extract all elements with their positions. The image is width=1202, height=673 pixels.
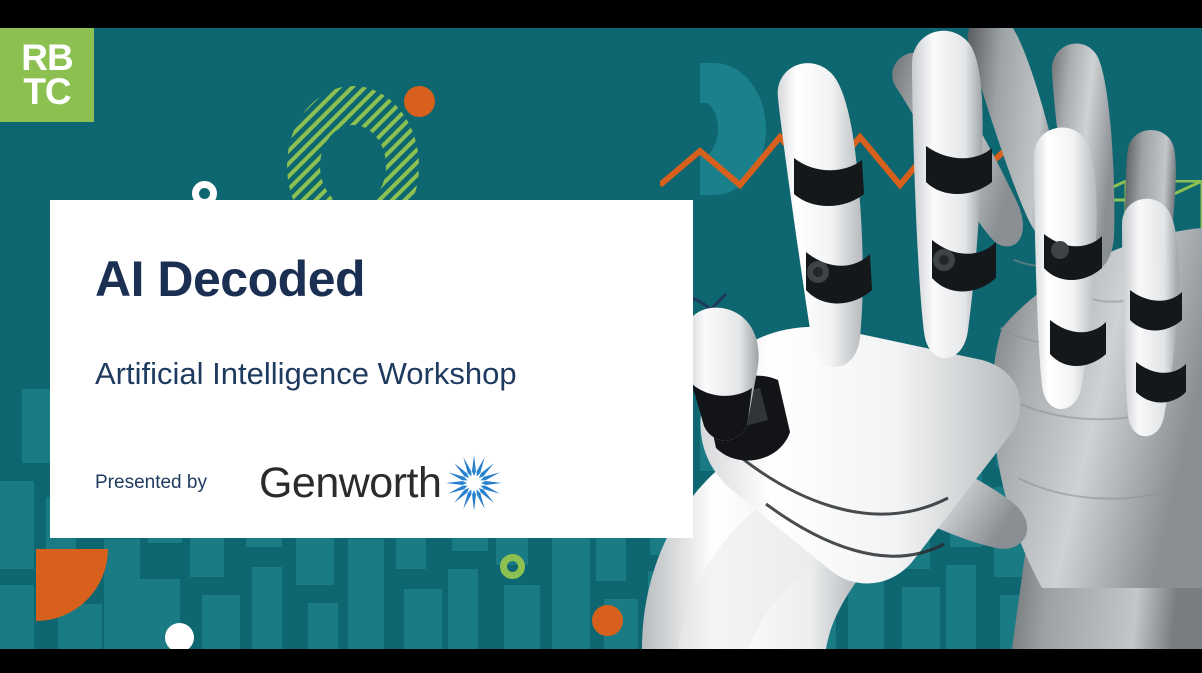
genworth-wordmark: Genworth <box>259 462 441 505</box>
slide-frame: AI Decoded Artificial Intelligence Works… <box>0 0 1202 673</box>
starburst-icon <box>445 454 503 512</box>
rbtc-logo-line-1: RB <box>21 41 72 75</box>
letterbox-bottom <box>0 649 1202 673</box>
page-subtitle: Artificial Intelligence Workshop <box>95 308 663 392</box>
white-dot-icon <box>165 623 194 649</box>
presented-by-row: Presented by Genworth <box>95 392 663 512</box>
page-title: AI Decoded <box>95 250 663 308</box>
green-ring-icon <box>500 554 525 579</box>
genworth-logo: Genworth <box>259 454 503 512</box>
orange-dot-icon <box>404 86 435 117</box>
rbtc-logo[interactable]: RB TC <box>0 28 94 122</box>
presented-by-label: Presented by <box>95 472 207 494</box>
slide-canvas: AI Decoded Artificial Intelligence Works… <box>0 28 1202 649</box>
rbtc-logo-line-2: TC <box>23 75 70 109</box>
letterbox-top <box>0 0 1202 28</box>
title-card: AI Decoded Artificial Intelligence Works… <box>50 200 693 538</box>
card-content: AI Decoded Artificial Intelligence Works… <box>95 250 663 512</box>
